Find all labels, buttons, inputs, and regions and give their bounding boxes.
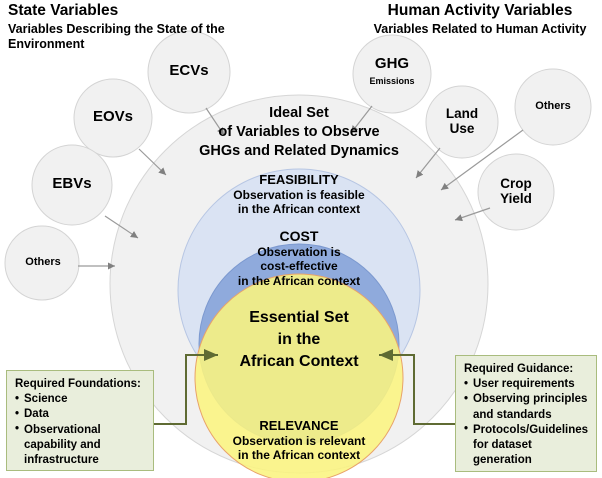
feasibility-body: Observation is feasible in the African c… <box>189 188 409 217</box>
callout-required-guidance[interactable]: Required Guidance: User requirements Obs… <box>455 355 597 472</box>
bubble-label-eovs: EOVs <box>73 109 153 126</box>
bubble-label-others-right: Others <box>514 100 592 112</box>
essential-set-label: Essential Set in the African Context <box>189 307 409 372</box>
bubble-label-land-use: Land Use <box>422 106 502 136</box>
bubble-label-ecvs: ECVs <box>149 63 229 80</box>
bubble-label-ghg: GHG <box>352 56 432 73</box>
callout-left-list: Science Data Observational capability an… <box>15 392 146 468</box>
bubble-label-crop-yield: Crop Yield <box>476 176 556 206</box>
list-item: User requirements <box>464 377 589 392</box>
ideal-set-label: Ideal Set of Variables to Observe GHGs a… <box>179 104 419 161</box>
callout-right-list: User requirements Observing principles a… <box>464 377 589 468</box>
cost-title: COST <box>199 228 399 245</box>
list-item: Protocols/Guidelines for dataset generat… <box>464 423 589 469</box>
feasibility-title: FEASIBILITY <box>199 172 399 187</box>
bubble-label-ebvs: EBVs <box>32 176 112 193</box>
header-right-title: Human Activity Variables <box>360 2 600 19</box>
relevance-body: Observation is relevant in the African c… <box>189 434 409 463</box>
list-item: Data <box>15 407 146 422</box>
bubble-label-ghg-sub: Emissions <box>352 76 432 86</box>
diagram-canvas: State Variables Variables Describing the… <box>0 0 602 478</box>
bubble-label-others-left: Others <box>4 256 82 268</box>
header-right-subtitle: Variables Related to Human Activity <box>358 22 602 37</box>
cost-body: Observation is cost-effective in the Afr… <box>189 245 409 288</box>
list-item: Science <box>15 392 146 407</box>
list-item: Observing principles and standards <box>464 392 589 422</box>
list-item: Observational capability and infrastruct… <box>15 423 146 469</box>
callout-left-heading: Required Foundations: <box>15 377 146 392</box>
header-left-subtitle: Variables Describing the State of the En… <box>8 22 308 52</box>
header-left-title: State Variables <box>8 2 308 19</box>
bubble-ghg[interactable] <box>353 35 431 113</box>
callout-required-foundations[interactable]: Required Foundations: Science Data Obser… <box>6 370 154 471</box>
relevance-title: RELEVANCE <box>199 418 399 433</box>
callout-right-heading: Required Guidance: <box>464 362 589 377</box>
